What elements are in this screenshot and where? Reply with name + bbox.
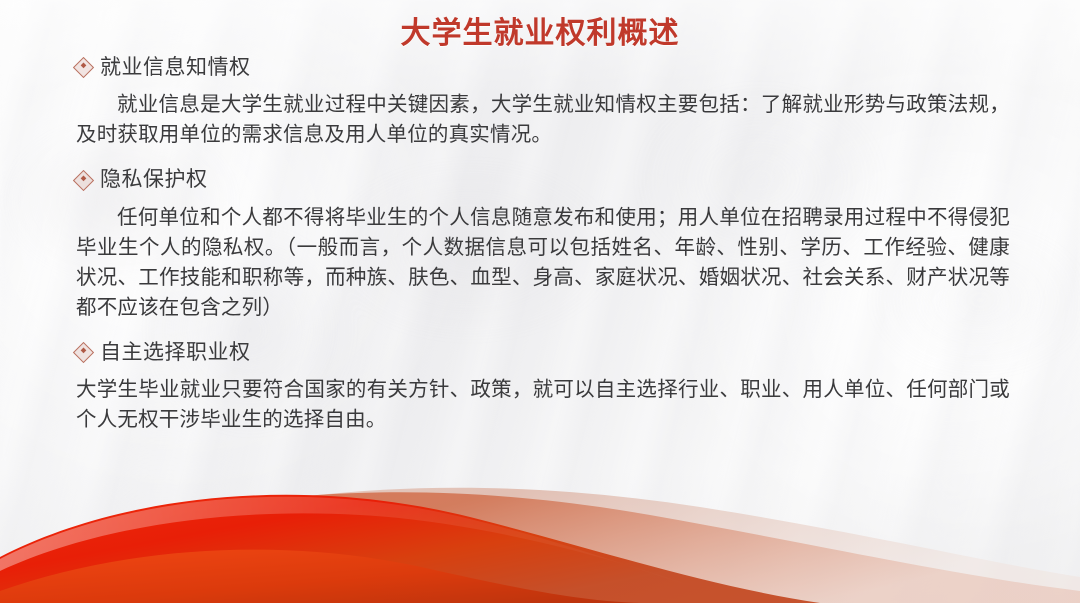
section-heading-employment-information-right: 就业信息知情权 <box>76 55 1010 80</box>
slide-canvas: 大学生就业权利概述 就业信息知情权 就业信息是大学生就业过程中关键因素，大学生就… <box>0 0 1080 603</box>
section-heading-privacy-protection-right: 隐私保护权 <box>76 167 1010 192</box>
diamond-bullet-icon <box>73 342 94 363</box>
section-heading-career-choice-right: 自主选择职业权 <box>76 340 1010 365</box>
section-heading-label: 自主选择职业权 <box>100 340 251 365</box>
section-heading-label: 就业信息知情权 <box>100 55 251 80</box>
diamond-bullet-icon <box>73 57 94 78</box>
diamond-bullet-icon <box>73 169 94 190</box>
red-ribbon-decoration <box>0 453 1080 603</box>
red-ribbon-svg <box>0 453 1080 603</box>
section-paragraph: 大学生毕业就业只要符合国家的有关方针、政策，就可以自主选择行业、职业、用人单位、… <box>76 374 1010 434</box>
section-paragraph: 就业信息是大学生就业过程中关键因素，大学生就业知情权主要包括：了解就业形势与政策… <box>76 89 1010 149</box>
slide-body: 就业信息知情权 就业信息是大学生就业过程中关键因素，大学生就业知情权主要包括：了… <box>76 55 1010 435</box>
section-paragraph: 任何单位和个人都不得将毕业生的个人信息随意发布和使用；用人单位在招聘录用过程中不… <box>76 202 1010 323</box>
slide-title: 大学生就业权利概述 <box>0 8 1080 52</box>
section-heading-label: 隐私保护权 <box>100 167 208 192</box>
